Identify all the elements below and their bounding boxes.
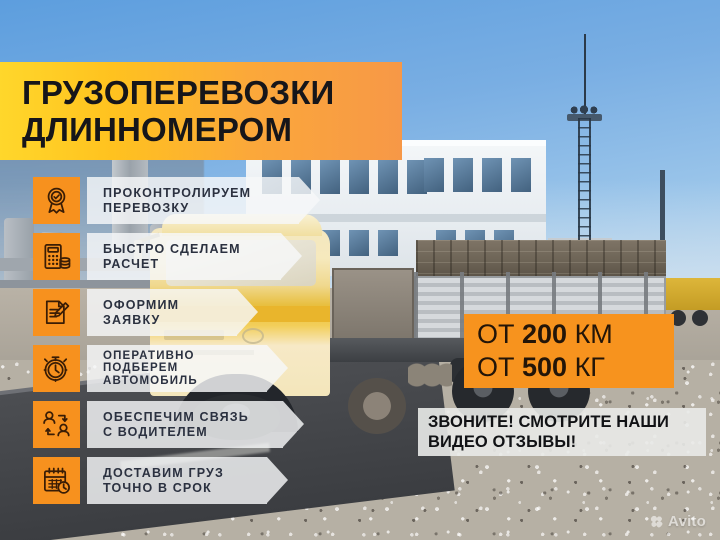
avito-watermark: Avito xyxy=(650,513,706,530)
avito-logo-icon xyxy=(650,515,663,528)
avito-watermark-text: Avito xyxy=(668,513,706,530)
award-medal-icon xyxy=(33,177,80,224)
feature-item: ОФОРМИМ ЗАЯВКУ xyxy=(33,289,299,336)
feature-item: ПРОКОНТРОЛИРУЕМ ПЕРЕВОЗКУ xyxy=(33,177,299,224)
calculator-coins-icon xyxy=(33,233,80,280)
feature-label-line: ОФОРМИМ xyxy=(103,298,237,313)
feature-label-line: ПЕРЕВОЗКУ xyxy=(103,201,299,216)
calendar-clock-icon xyxy=(33,457,80,504)
headline-banner: ГРУЗОПЕРЕВОЗКИ ДЛИННОМЕРОМ xyxy=(0,62,402,160)
distance-prefix: ОТ xyxy=(477,319,522,349)
minimum-order-callout: ОТ 200 КМ ОТ 500 КГ xyxy=(464,314,674,388)
weight-prefix: ОТ xyxy=(477,352,522,382)
feature-list: ПРОКОНТРОЛИРУЕМ ПЕРЕВОЗКУ xyxy=(33,177,299,504)
weight-unit: КГ xyxy=(567,352,605,382)
minimum-weight: ОТ 500 КГ xyxy=(477,351,674,384)
weight-value: 500 xyxy=(522,352,567,382)
call-to-action: ЗВОНИТЕ! СМОТРИТЕ НАШИ ВИДЕО ОТЗЫВЫ! xyxy=(418,408,706,456)
feature-label-line: РАСЧЕТ xyxy=(103,257,281,272)
feature-label-line: ПОДБЕРЕМ xyxy=(103,362,267,374)
feature-item: БЫСТРО СДЕЛАЕМ РАСЧЕТ xyxy=(33,233,299,280)
feature-label: ПРОКОНТРОЛИРУЕМ ПЕРЕВОЗКУ xyxy=(87,177,299,224)
feature-label-line: ОБЕСПЕЧИМ СВЯЗЬ xyxy=(103,410,283,425)
feature-item: ДОСТАВИМ ГРУЗ ТОЧНО В СРОК xyxy=(33,457,299,504)
feature-label-line: ТОЧНО В СРОК xyxy=(103,481,267,496)
feature-label-line: ДОСТАВИМ ГРУЗ xyxy=(103,466,267,481)
stopwatch-icon xyxy=(33,345,80,392)
document-pen-icon xyxy=(33,289,80,336)
feature-label-line: АВТОМОБИЛЬ xyxy=(103,375,267,387)
feature-label-line: С ВОДИТЕЛЕМ xyxy=(103,425,283,440)
minimum-distance: ОТ 200 КМ xyxy=(477,318,674,351)
feature-label-line: ОПЕРАТИВНО xyxy=(103,350,267,362)
distance-value: 200 xyxy=(522,319,567,349)
headline-line-1: ГРУЗОПЕРЕВОЗКИ xyxy=(22,74,402,111)
headline-line-2: ДЛИННОМЕРОМ xyxy=(22,111,402,148)
feature-label: ОФОРМИМ ЗАЯВКУ xyxy=(87,289,237,336)
feature-label-line: ЗАЯВКУ xyxy=(103,313,237,328)
feature-item: ОБЕСПЕЧИМ СВЯЗЬ С ВОДИТЕЛЕМ xyxy=(33,401,299,448)
feature-item: ОПЕРАТИВНО ПОДБЕРЕМ АВТОМОБИЛЬ xyxy=(33,345,299,392)
distance-unit: КМ xyxy=(567,319,613,349)
cta-line-2: ВИДЕО ОТЗЫВЫ! xyxy=(428,432,706,452)
advertisement-banner: ГРУЗОПЕРЕВОЗКИ ДЛИННОМЕРОМ ПРОКОНТРОЛИРУ… xyxy=(0,0,720,540)
feature-label-line: ПРОКОНТРОЛИРУЕМ xyxy=(103,186,299,201)
feature-label: ДОСТАВИМ ГРУЗ ТОЧНО В СРОК xyxy=(87,457,267,504)
feature-label: БЫСТРО СДЕЛАЕМ РАСЧЕТ xyxy=(87,233,281,280)
people-exchange-icon xyxy=(33,401,80,448)
feature-label-line: БЫСТРО СДЕЛАЕМ xyxy=(103,242,281,257)
cta-line-1: ЗВОНИТЕ! СМОТРИТЕ НАШИ xyxy=(428,412,706,432)
feature-label: ОПЕРАТИВНО ПОДБЕРЕМ АВТОМОБИЛЬ xyxy=(87,345,267,392)
feature-label: ОБЕСПЕЧИМ СВЯЗЬ С ВОДИТЕЛЕМ xyxy=(87,401,283,448)
